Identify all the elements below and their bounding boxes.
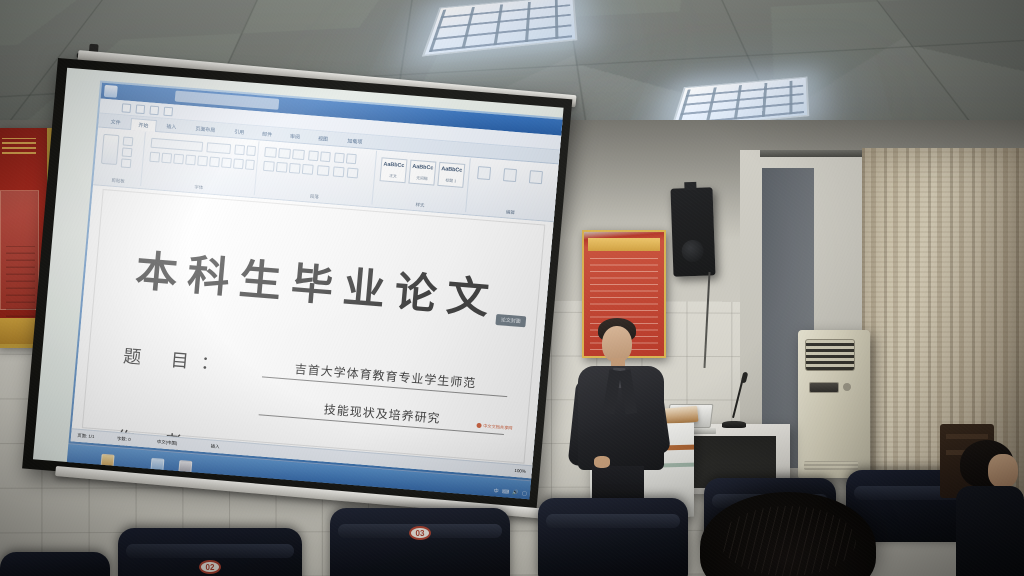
seat-02[interactable]: 02 (118, 528, 302, 576)
seat-headrest (126, 544, 294, 558)
field-subject-value-line-1: 吉首大学体育教育专业学生师范 (262, 357, 509, 397)
shading-icon[interactable] (333, 166, 345, 177)
microphone-gooseneck (732, 377, 744, 418)
style-no-spacing-name: 无间隔 (410, 174, 435, 184)
document-sheet[interactable]: 本科生毕业论文 论文封面 题 目： 吉首大学体育教育专业学生师范 技能现状及培养… (82, 189, 545, 464)
status-language[interactable]: 中文(中国) (157, 439, 178, 447)
status-insert[interactable]: 插入 (210, 444, 219, 451)
poster-left-header (2, 138, 36, 154)
superscript-icon[interactable] (209, 157, 220, 168)
customize-qat-icon[interactable] (163, 107, 173, 117)
select-icon[interactable] (529, 170, 543, 184)
foreground-attendee-hair (720, 506, 856, 576)
chair-slat (946, 434, 988, 439)
format-painter-icon[interactable] (121, 158, 132, 168)
style-normal[interactable]: AaBbCc 正文 (379, 157, 407, 183)
redo-icon[interactable] (149, 106, 159, 116)
font-size-box[interactable] (206, 142, 231, 154)
microphone-base (722, 421, 746, 428)
presenter-hand (594, 456, 610, 468)
projector-screen-assembly: 文件 开始 插入 页面布局 引用 邮件 审阅 视图 加载项 (58, 48, 578, 478)
status-zoom[interactable]: 100% (514, 468, 526, 474)
ribbon-group-font[interactable]: 字体 (143, 132, 259, 195)
style-normal-name: 正文 (381, 171, 406, 181)
cut-icon[interactable] (123, 136, 134, 146)
folder-icon[interactable] (101, 454, 115, 468)
clear-format-icon[interactable] (245, 159, 255, 170)
style-no-spacing[interactable]: AaBbCc 无间隔 (408, 160, 436, 186)
ribbon-group-clipboard[interactable]: 剪贴板 (95, 129, 146, 186)
ribbon-group-editing[interactable]: 编辑 (468, 159, 556, 220)
text-highlight-icon[interactable] (221, 157, 232, 168)
font-color-icon[interactable] (233, 158, 244, 169)
underline-icon[interactable] (173, 154, 184, 165)
subscript-icon[interactable] (197, 156, 208, 167)
paste-button[interactable] (101, 134, 120, 165)
seat-number-badge: 03 (409, 526, 431, 540)
align-center-icon[interactable] (276, 162, 288, 173)
ac-control-panel[interactable] (809, 382, 839, 393)
replace-icon[interactable] (503, 168, 517, 182)
grow-font-icon[interactable] (234, 144, 245, 155)
browser-icon[interactable] (150, 458, 164, 472)
seat-headrest (546, 514, 680, 528)
align-left-icon[interactable] (263, 161, 275, 172)
document-title: 本科生毕业论文 (95, 234, 541, 330)
align-right-icon[interactable] (289, 163, 301, 174)
ribbon-group-paragraph[interactable]: 段落 (257, 142, 377, 205)
ribbon-group-label-clipboard: 剪贴板 (95, 176, 140, 186)
strikethrough-icon[interactable] (185, 155, 196, 166)
bullet-list-icon[interactable] (264, 147, 277, 158)
media-icon[interactable] (178, 460, 192, 474)
word-window[interactable]: 文件 开始 插入 页面布局 引用 邮件 审阅 视图 加载项 (71, 83, 564, 479)
borders-icon[interactable] (347, 168, 359, 179)
style-heading-1-name: 标题 1 (438, 176, 463, 186)
show-marks-icon[interactable] (346, 153, 357, 164)
status-page: 页面: 1/1 (77, 433, 95, 440)
style-heading-1-preview: AaBbCc (441, 166, 462, 174)
increase-indent-icon[interactable] (320, 151, 331, 162)
font-family-box[interactable] (151, 138, 204, 152)
copy-icon[interactable] (122, 147, 133, 157)
right-attendee-face (988, 454, 1018, 488)
classroom-photo: 文件 开始 插入 页面布局 引用 邮件 审阅 视图 加载项 (0, 0, 1024, 576)
style-normal-preview: AaBbCc (383, 161, 404, 169)
seat-07[interactable] (0, 552, 110, 576)
seat-03[interactable]: 03 (330, 508, 510, 576)
air-conditioner (798, 330, 870, 478)
watermark-text: 中文文档共享网 (483, 423, 513, 430)
italic-icon[interactable] (161, 153, 172, 164)
field-subject-label: 题 目： (122, 342, 232, 377)
sort-icon[interactable] (334, 153, 345, 164)
poster-left-text-lines (6, 246, 35, 324)
document-badge: 论文封面 (495, 314, 526, 327)
find-icon[interactable] (477, 166, 491, 180)
microphone-head (741, 372, 749, 384)
poster-red-title-band (588, 238, 660, 251)
ac-brand-logo (843, 383, 851, 391)
undo-icon[interactable] (135, 104, 145, 114)
presenter (566, 316, 678, 522)
projector-screen: 文件 开始 插入 页面布局 引用 邮件 审阅 视图 加载项 (22, 58, 572, 510)
shrink-font-icon[interactable] (246, 145, 256, 156)
seat-number-badge: 02 (199, 560, 221, 574)
speaker-cone (681, 240, 704, 263)
save-icon[interactable] (122, 103, 132, 113)
numbered-list-icon[interactable] (278, 148, 291, 159)
style-no-spacing-preview: AaBbCc (412, 164, 433, 172)
screen-surface: 文件 开始 插入 页面布局 引用 邮件 审阅 视图 加载项 (33, 68, 564, 499)
office-orb-icon[interactable] (104, 85, 118, 98)
speaker-bracket (684, 182, 696, 190)
document-canvas[interactable]: 本科生毕业论文 论文封面 题 目： 吉首大学体育教育专业学生师范 技能现状及培养… (71, 185, 556, 478)
style-heading-1[interactable]: AaBbCc 标题 1 (437, 162, 465, 188)
light-louver-grid (677, 80, 804, 125)
seat-04[interactable] (538, 498, 688, 576)
ac-base-grille (804, 461, 858, 470)
desk-microphone (716, 376, 750, 428)
bold-icon[interactable] (149, 152, 160, 163)
multilevel-list-icon[interactable] (292, 149, 305, 160)
taskbar-tray[interactable]: 中 ⌨ 🔊 ▢ (493, 487, 528, 497)
wall-speaker (670, 187, 715, 276)
right-attendee-body (956, 486, 1024, 576)
status-words: 字数: 0 (117, 436, 131, 443)
line-spacing-icon[interactable] (317, 165, 330, 176)
right-attendee (956, 440, 1024, 576)
projected-desktop: 文件 开始 插入 页面布局 引用 邮件 审阅 视图 加载项 (66, 80, 564, 499)
watermark-dot-icon (476, 423, 481, 428)
justify-icon[interactable] (302, 164, 314, 175)
ribbon-group-styles[interactable]: AaBbCc 正文 AaBbCc 无间隔 AaBbCc 标题 1 (374, 151, 470, 212)
presenter-head (602, 326, 632, 362)
ac-vent-louvers (805, 339, 855, 371)
decrease-indent-icon[interactable] (308, 150, 319, 161)
